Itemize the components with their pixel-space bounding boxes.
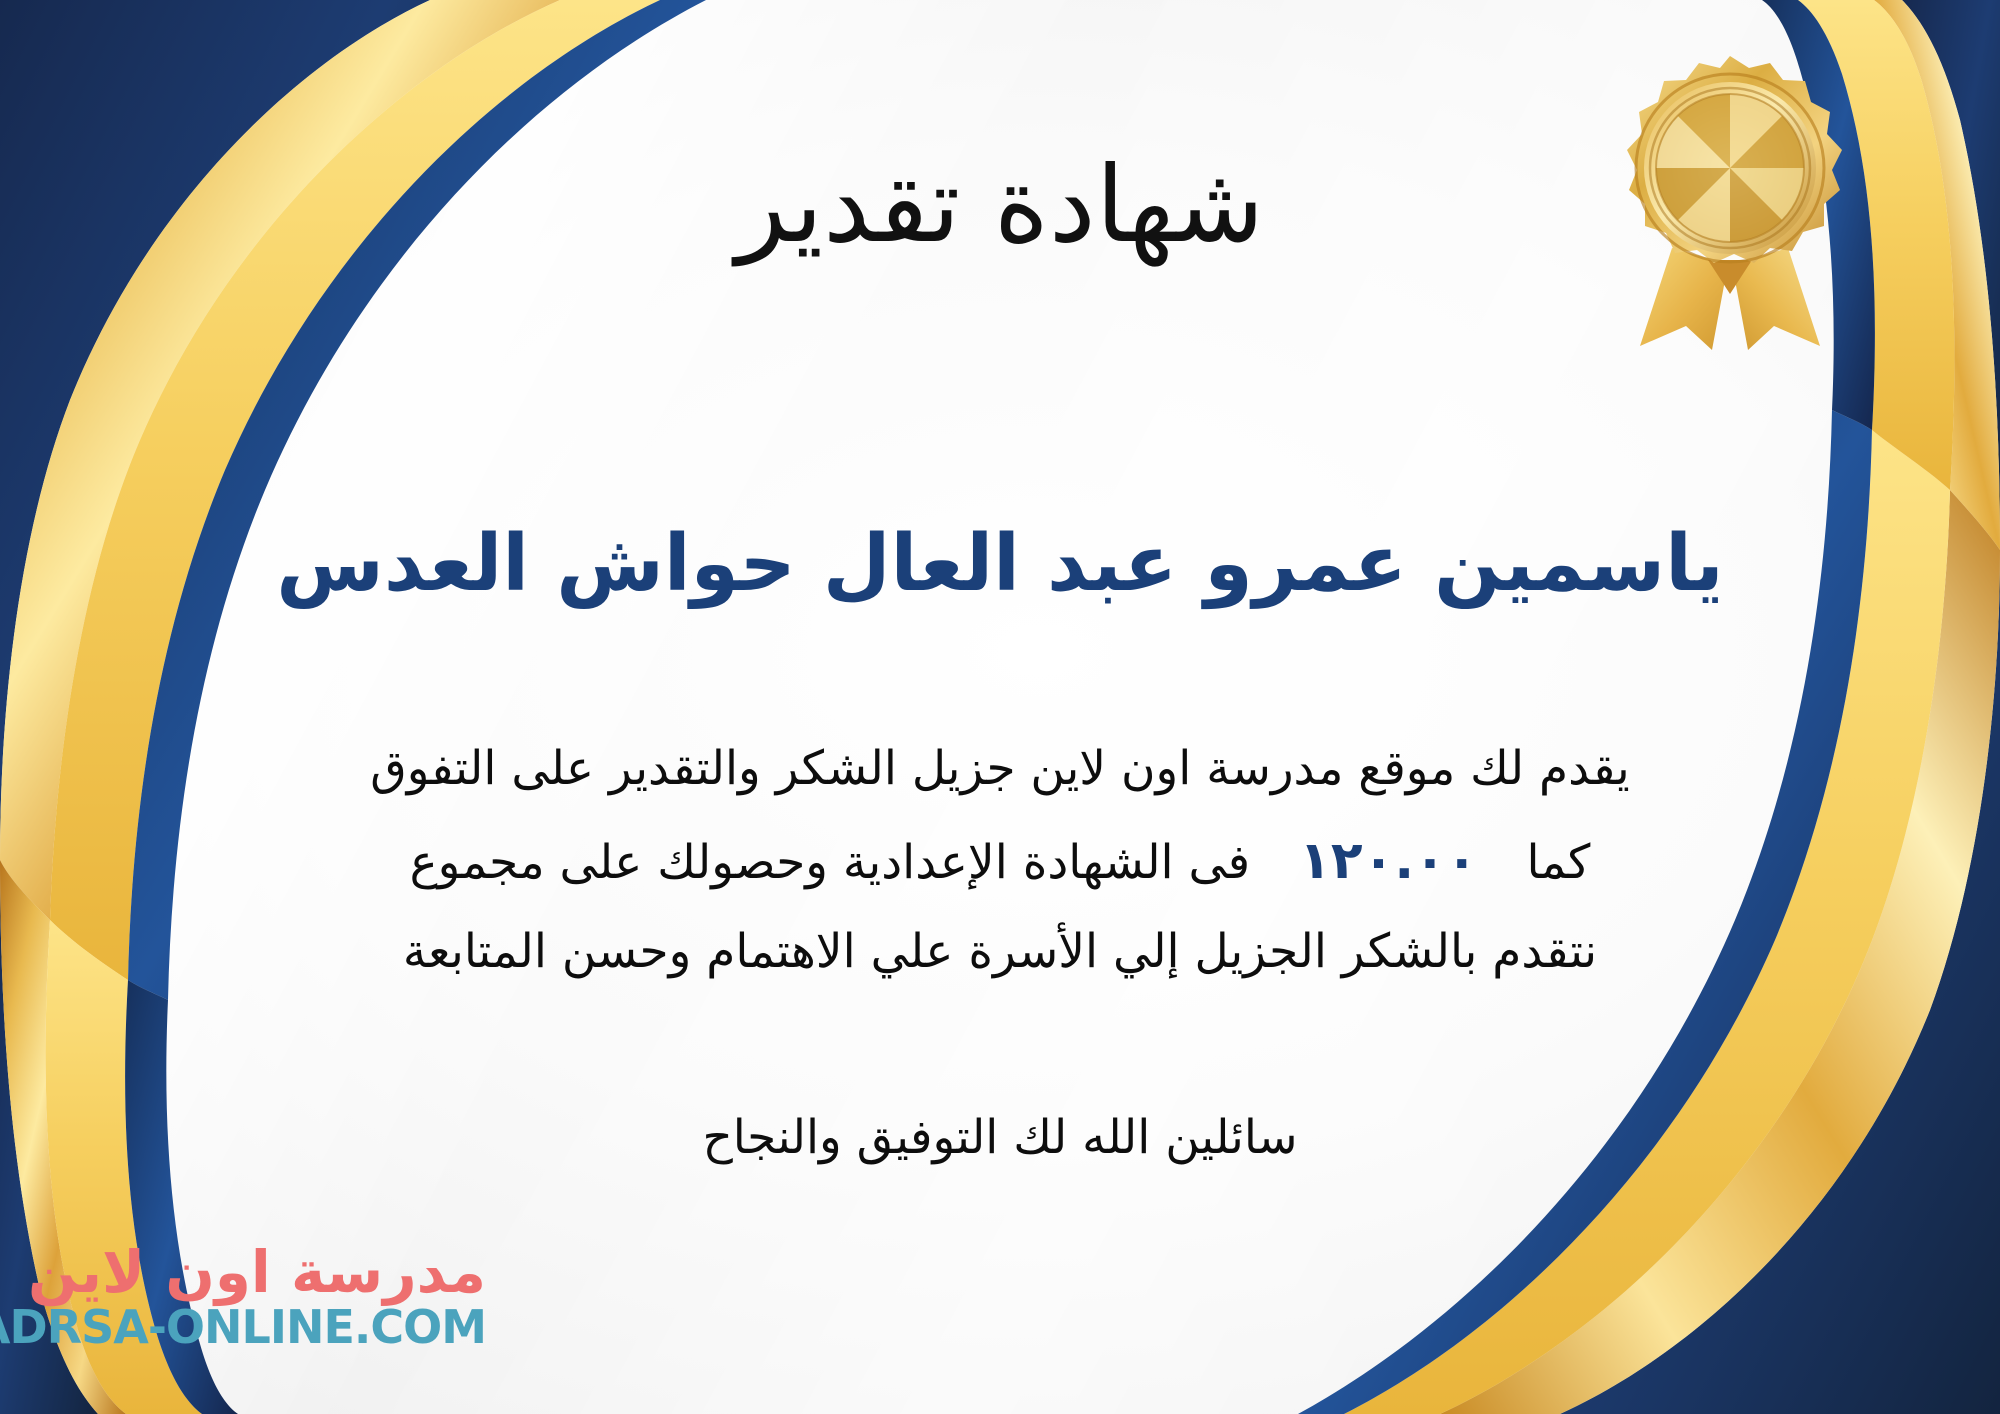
logo-arabic-name: مدرسة اون لاين [28, 1242, 486, 1303]
body-line-3: نتقدم بالشكر الجزيل إلي الأسرة علي الاهت… [120, 909, 1880, 996]
page-title: شهادة تقدير [0, 148, 2000, 264]
grade-value: ١٢٠.٠٠ [1265, 831, 1511, 891]
body-line-2-before: فى الشهادة الإعدادية وحصولك على مجموع [410, 835, 1251, 890]
logo-row: مدرسة اون لاين MADRSA-ONLINE.COM [26, 1242, 486, 1351]
body-line-1: يقدم لك موقع مدرسة اون لاين جزيل الشكر و… [120, 726, 1880, 813]
closing-wish: سائلين الله لك التوفيق والنجاح [0, 1100, 2000, 1175]
recipient-name: ياسمين عمرو عبد العال حواش العدس [0, 520, 2000, 610]
brand-logo[interactable]: مدرسة اون لاين MADRSA-ONLINE.COM [26, 1242, 486, 1392]
certificate-body: يقدم لك موقع مدرسة اون لاين جزيل الشكر و… [120, 726, 1880, 996]
certificate-content: شهادة تقدير ياسمين عمرو عبد العال حواش ا… [0, 0, 2000, 1414]
logo-website: MADRSA-ONLINE.COM [0, 1303, 486, 1351]
body-line-2-after: كما [1527, 835, 1591, 890]
logo-text: مدرسة اون لاين MADRSA-ONLINE.COM [0, 1242, 486, 1351]
certificate-page: شهادة تقدير ياسمين عمرو عبد العال حواش ا… [0, 0, 2000, 1414]
body-line-2: كما ١٢٠.٠٠ فى الشهادة الإعدادية وحصولك ع… [120, 813, 1880, 909]
